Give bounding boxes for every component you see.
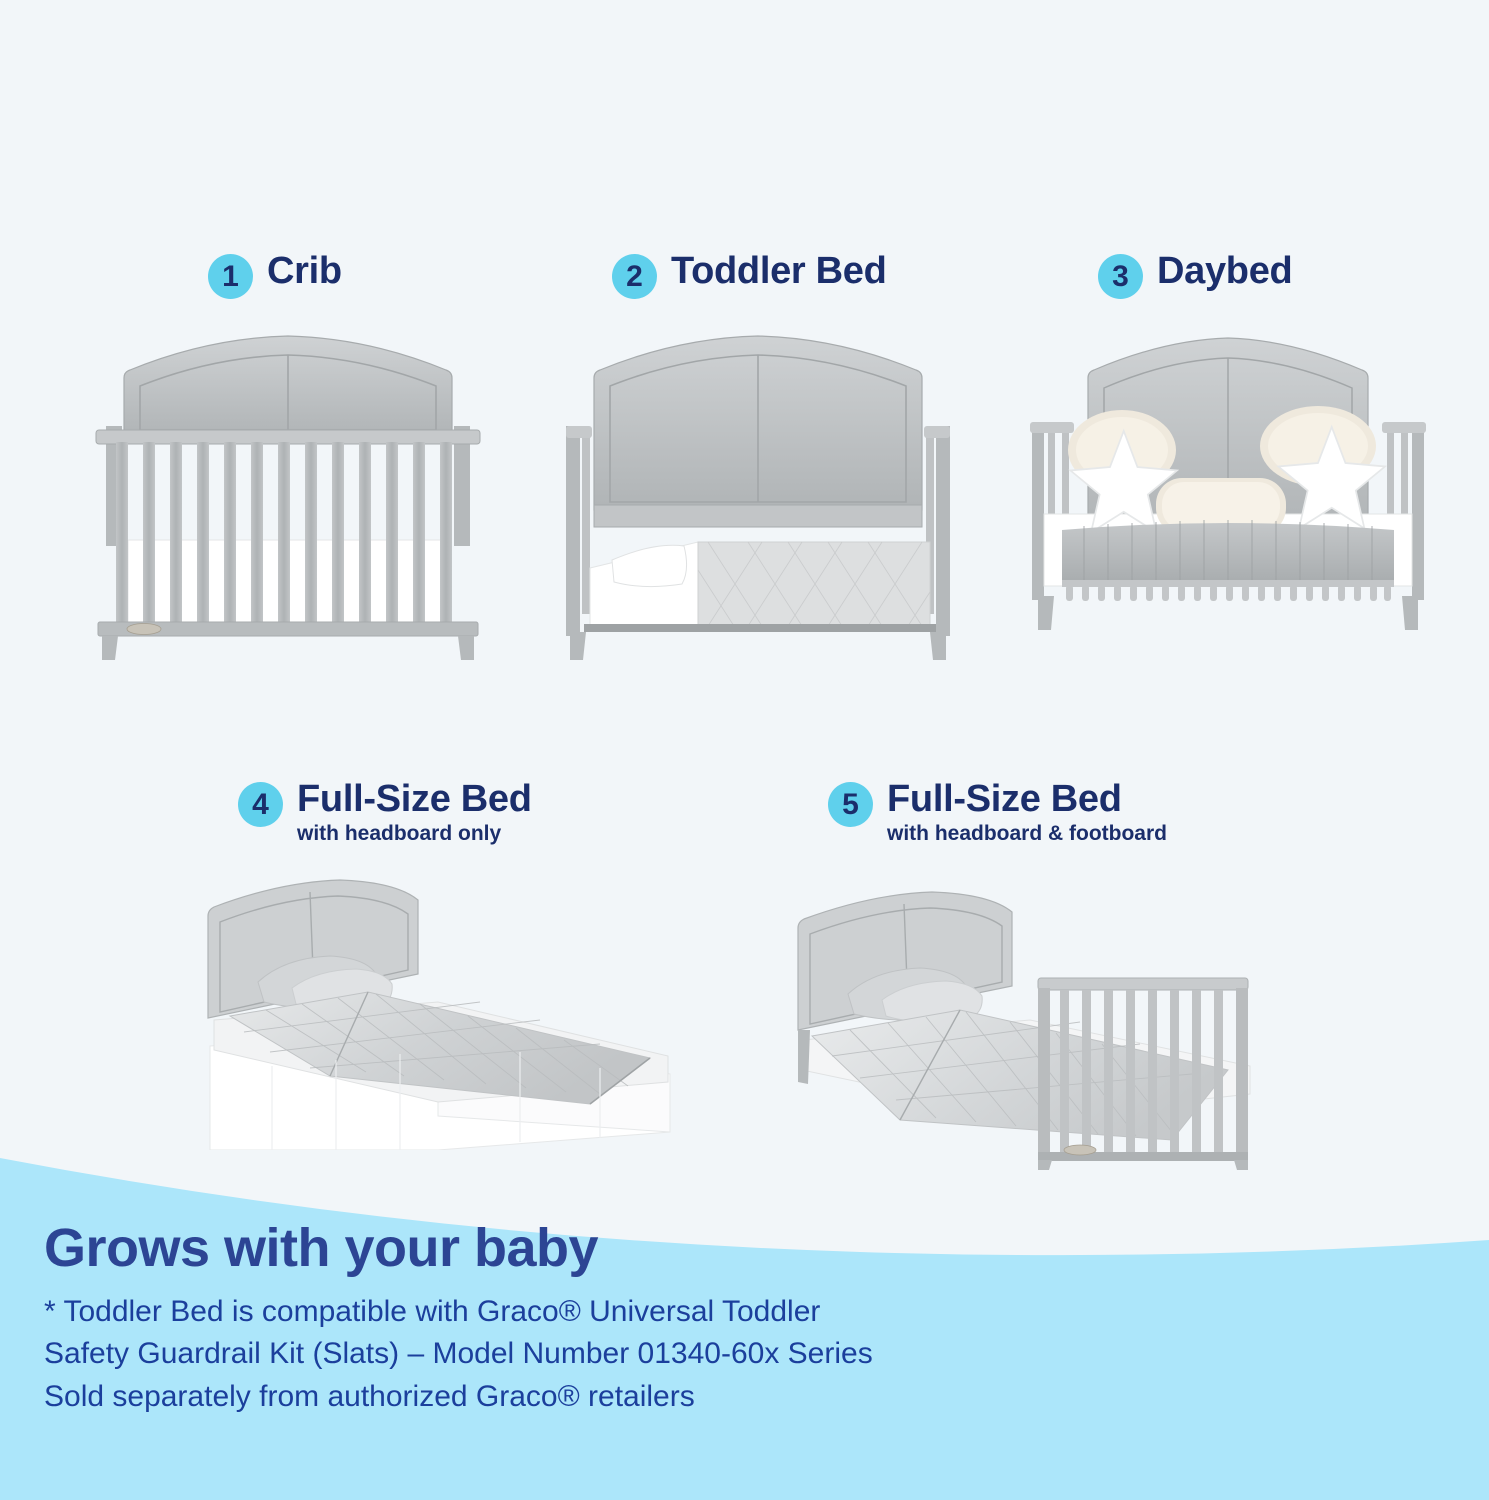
- step-title-5: Full-Size Bed: [887, 780, 1167, 820]
- step-title-4: Full-Size Bed: [297, 780, 532, 820]
- step-badge-4: 4: [238, 782, 283, 827]
- toddler-bed-illustration: [558, 330, 958, 660]
- bottom-banner: Grows with your baby * Toddler Bed is co…: [0, 1100, 1489, 1500]
- banner-line-1: * Toddler Bed is compatible with Graco® …: [44, 1291, 1449, 1334]
- step-title-1: Crib: [267, 252, 342, 292]
- crib-illustration: [88, 330, 488, 660]
- graco-nameplate: [127, 624, 161, 635]
- step-label-5: 5 Full-Size Bed with headboard & footboa…: [828, 780, 1167, 846]
- step-label-3: 3 Daybed: [1098, 252, 1292, 299]
- step-subtitle-5: with headboard & footboard: [887, 822, 1167, 846]
- step-label-1: 1 Crib: [208, 252, 342, 299]
- step-label-4: 4 Full-Size Bed with headboard only: [238, 780, 532, 846]
- step-badge-1: 1: [208, 254, 253, 299]
- banner-line-2: Safety Guardrail Kit (Slats) – Model Num…: [44, 1333, 1449, 1376]
- step-title-3: Daybed: [1157, 252, 1292, 292]
- banner-title: Grows with your baby: [44, 1220, 1449, 1277]
- step-subtitle-4: with headboard only: [297, 822, 532, 846]
- step-badge-5: 5: [828, 782, 873, 827]
- daybed-illustration: [1028, 330, 1428, 660]
- infographic-stage: 1 Crib: [0, 0, 1489, 1500]
- step-badge-3: 3: [1098, 254, 1143, 299]
- step-label-2: 2 Toddler Bed: [612, 252, 887, 299]
- step-badge-2: 2: [612, 254, 657, 299]
- step-title-2: Toddler Bed: [671, 252, 887, 292]
- banner-line-3: Sold separately from authorized Graco® r…: [44, 1376, 1449, 1419]
